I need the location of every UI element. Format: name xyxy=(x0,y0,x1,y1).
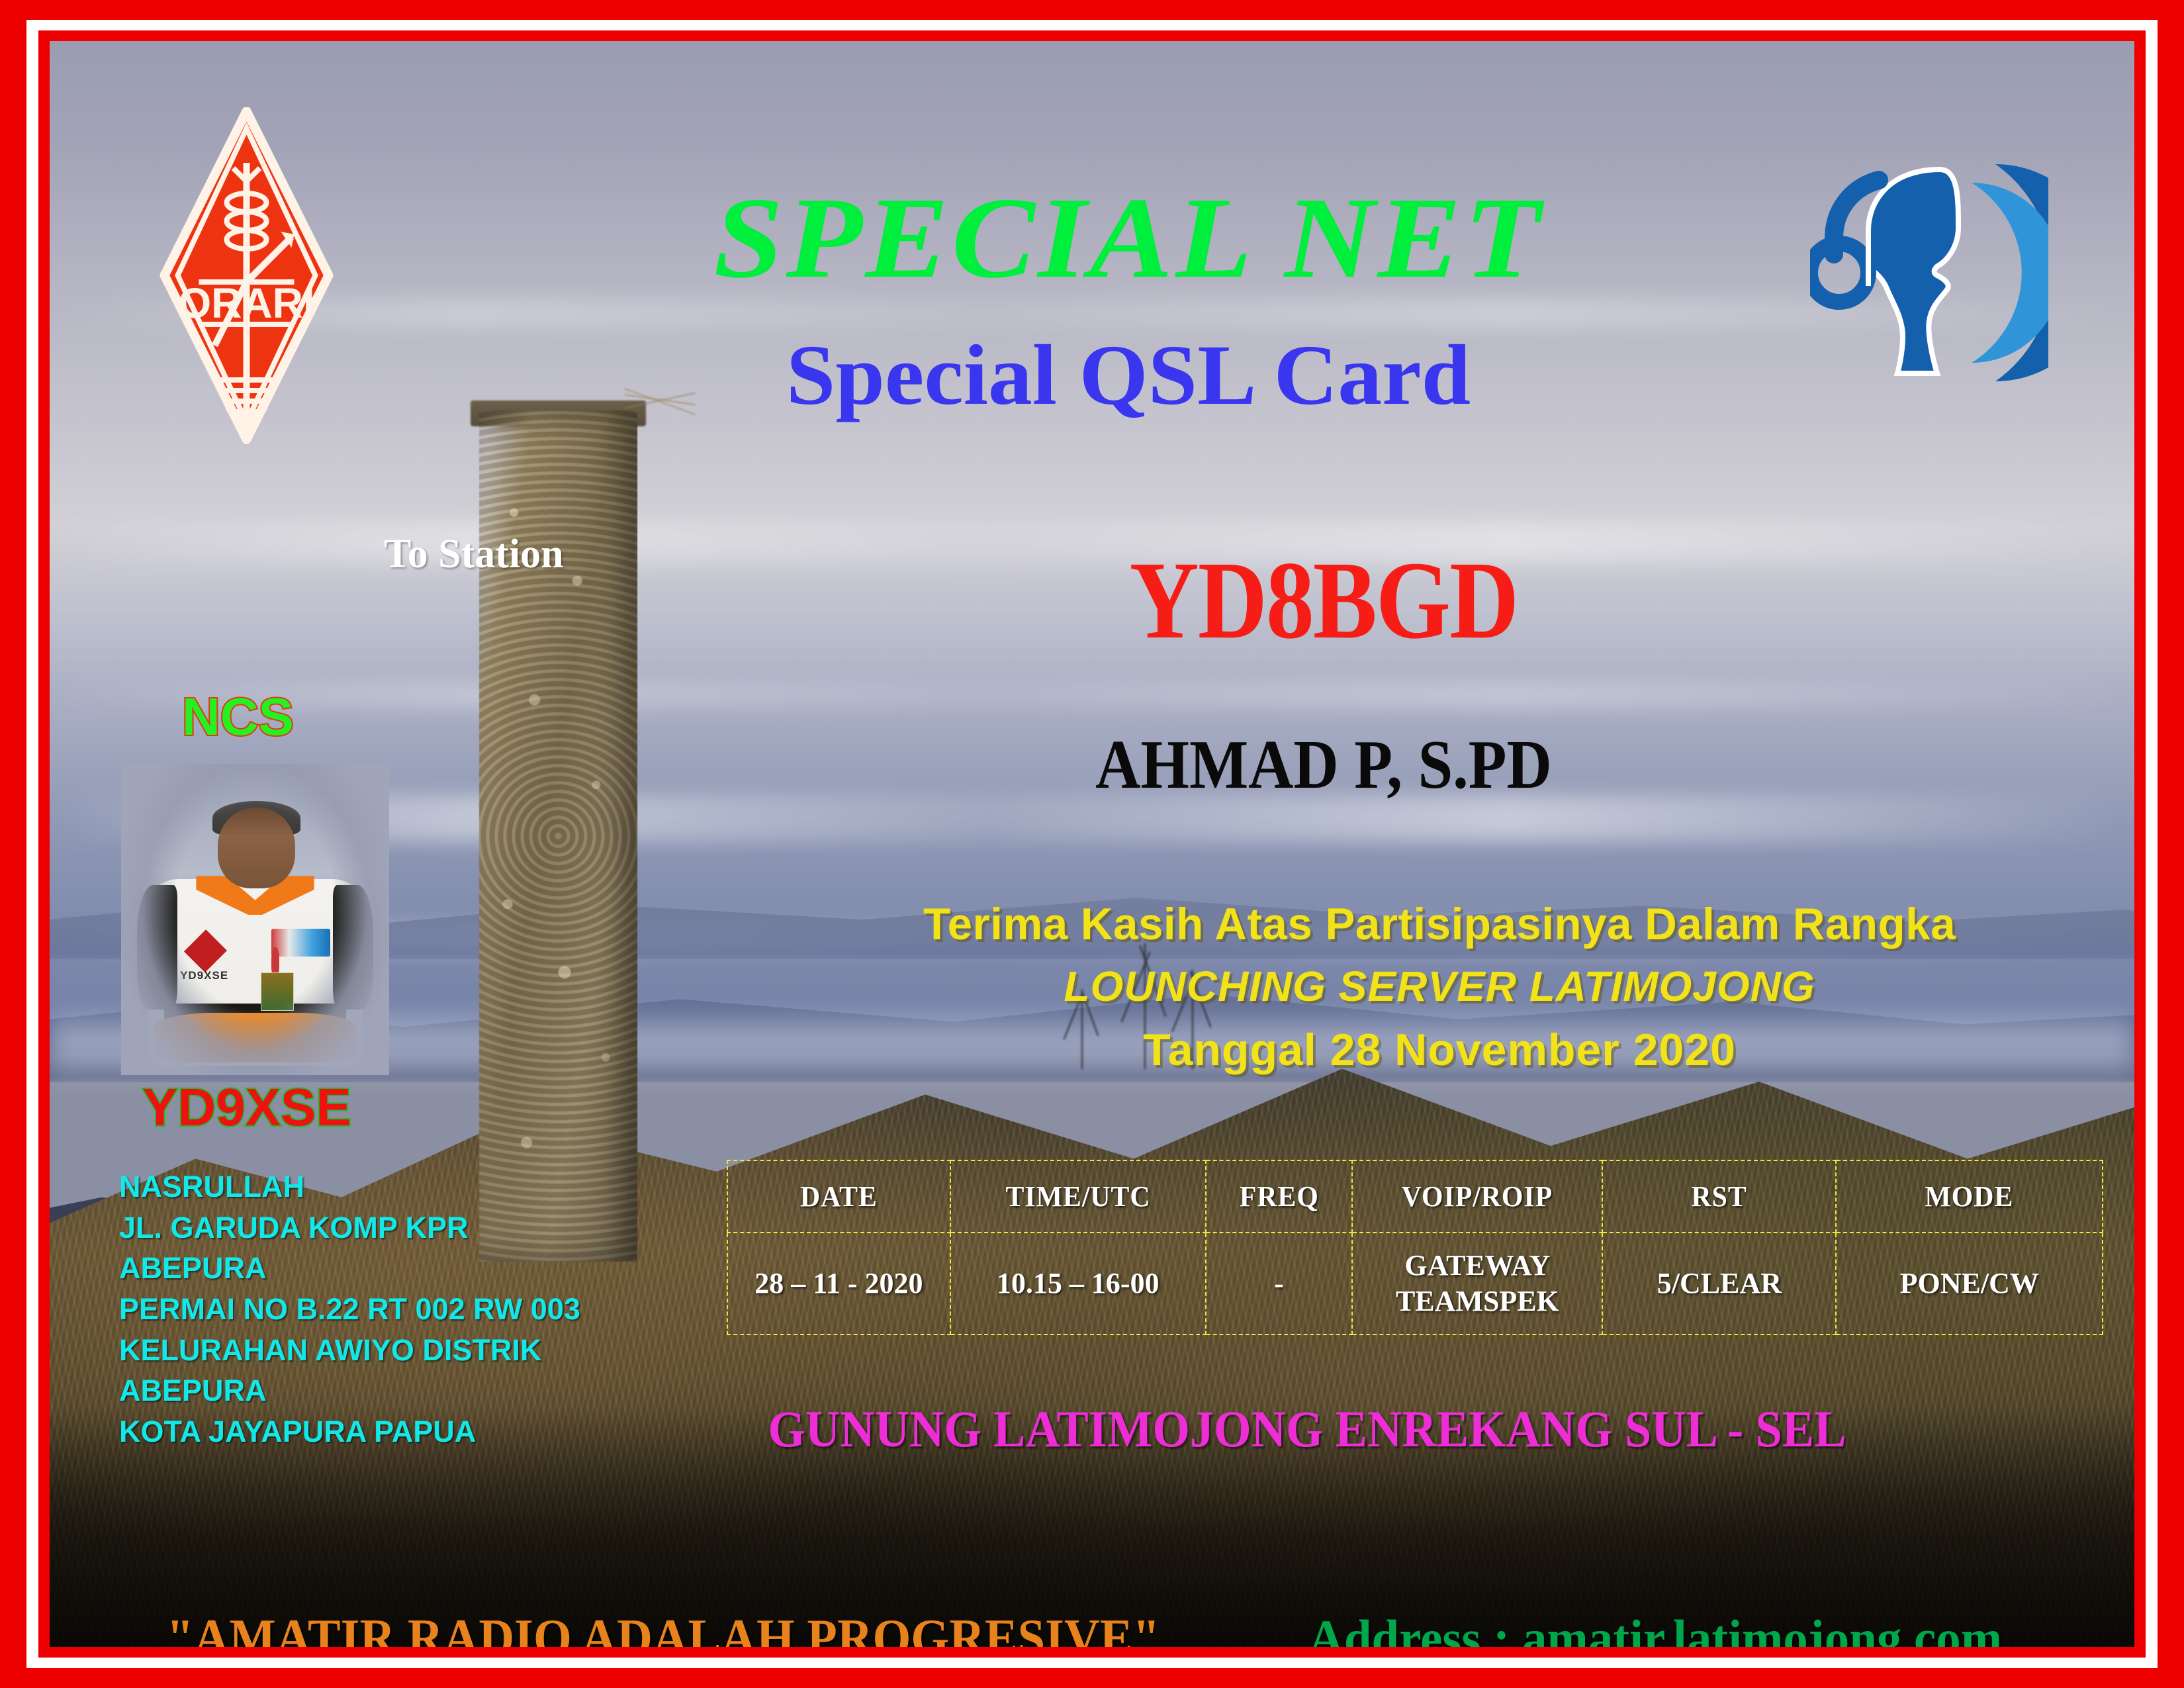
location-text: GUNUNG LATIMOJONG ENREKANG SUL - SEL xyxy=(723,1399,1892,1459)
ncs-callsign: YD9XSE xyxy=(142,1077,351,1138)
cell-freq: - xyxy=(1206,1233,1353,1335)
cell-rst: 5/CLEAR xyxy=(1602,1233,1836,1335)
operator-name: AHMAD P, S.PD xyxy=(892,729,1756,799)
ncs-operator-photo: YD9XSE xyxy=(121,764,389,1075)
cloud-band xyxy=(50,683,2134,708)
orari-logo: ORARI xyxy=(159,107,334,445)
mailing-address: NASRULLAH JL. GARUDA KOMP KPR ABEPURA PE… xyxy=(119,1166,668,1452)
table-header-row: DATE TIME/UTC FREQ VOIP/ROIP RST MODE xyxy=(727,1160,2103,1233)
column-header-date: DATE xyxy=(733,1160,944,1233)
thanks-block: Terima Kasih Atas Partisipasinya Dalam R… xyxy=(745,902,2134,1074)
cell-voip: GATEWAY TEAMSPEK xyxy=(1352,1233,1602,1335)
ncs-label: NCS xyxy=(182,686,294,747)
address-line: NASRULLAH xyxy=(119,1166,668,1207)
address-line: ABEPURA xyxy=(119,1370,668,1411)
orari-logo-text: ORARI xyxy=(178,279,314,327)
footer-motto: "AMATIR RADIO ADALAH PROGRESIVE" xyxy=(166,1609,1160,1647)
card-background-photo: ORARI SPECIAL NET Special QSL Card To St… xyxy=(50,41,2134,1647)
address-line: PERMAI NO B.22 RT 002 RW 003 xyxy=(119,1289,668,1330)
station-callsign: YD8BGD xyxy=(858,545,1790,656)
cell-mode: PONE/CW xyxy=(1836,1233,2103,1335)
page-subtitle: Special QSL Card xyxy=(488,332,1769,418)
photo-vignette xyxy=(121,764,389,1075)
column-header-voip: VOIP/ROIP xyxy=(1359,1160,1596,1233)
column-header-time: TIME/UTC xyxy=(956,1160,1199,1233)
footer-web-address: Address : amatir.latimojong.com xyxy=(1308,1609,2002,1647)
to-station-label: To Station xyxy=(384,531,564,578)
cell-voip-line-2: TEAMSPEK xyxy=(1353,1284,1601,1319)
address-line: KOTA JAYAPURA PAPUA xyxy=(119,1411,668,1452)
address-line: JL. GARUDA KOMP KPR xyxy=(119,1207,668,1248)
column-header-freq: FREQ xyxy=(1209,1160,1349,1233)
table-row: 28 – 11 - 2020 10.15 – 16-00 - GATEWAY T… xyxy=(727,1233,2103,1335)
qsl-card: ORARI SPECIAL NET Special QSL Card To St… xyxy=(0,0,2184,1688)
column-header-rst: RST xyxy=(1608,1160,1831,1233)
column-header-mode: MODE xyxy=(1843,1160,2096,1233)
thanks-line-2: LOUNCHING SERVER LATIMOJONG xyxy=(745,964,2134,1009)
page-title: SPECIAL NET xyxy=(457,180,1800,296)
address-line: KELURAHAN AWIYO DISTRIK xyxy=(119,1330,668,1371)
radio-headset-logo xyxy=(1810,140,2048,405)
thanks-line-3: Tanggal 28 November 2020 xyxy=(745,1027,2134,1074)
thanks-line-1: Terima Kasih Atas Partisipasinya Dalam R… xyxy=(752,902,2128,947)
cell-voip-line-1: GATEWAY xyxy=(1353,1248,1601,1284)
cell-date: 28 – 11 - 2020 xyxy=(727,1233,950,1335)
address-line: ABEPURA xyxy=(119,1248,668,1289)
cell-time: 10.15 – 16-00 xyxy=(950,1233,1206,1335)
qso-table: DATE TIME/UTC FREQ VOIP/ROIP RST MODE 28… xyxy=(727,1160,2103,1335)
